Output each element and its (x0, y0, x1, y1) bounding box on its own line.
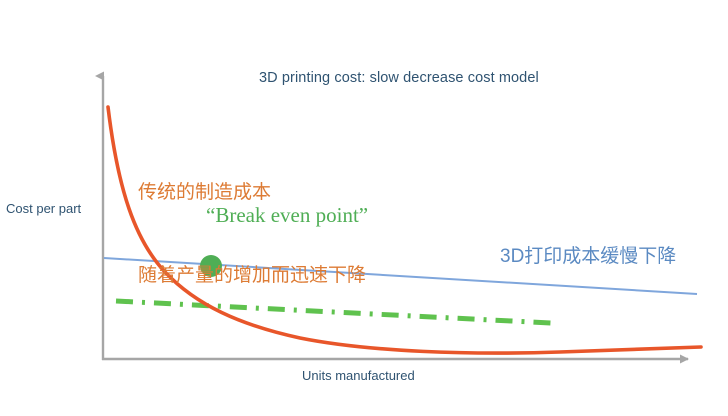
chart-title: 3D printing cost: slow decrease cost mod… (259, 70, 539, 88)
annotation-traditional-cost: 传统的制造成本 随着产量的增加而迅速下降 (138, 124, 366, 344)
annotation-break-even-point: “Break even point” (206, 203, 368, 229)
x-axis-label: Units manufactured (302, 368, 415, 384)
y-axis-label: Cost per part (6, 201, 81, 217)
annotation-3d-printing-slow-decrease: 3D打印成本缓慢下降 (500, 245, 676, 268)
annotation-traditional-line-2: 随着产量的增加而迅速下降 (138, 262, 366, 290)
chart-canvas: 3D printing cost: slow decrease cost mod… (0, 0, 728, 416)
